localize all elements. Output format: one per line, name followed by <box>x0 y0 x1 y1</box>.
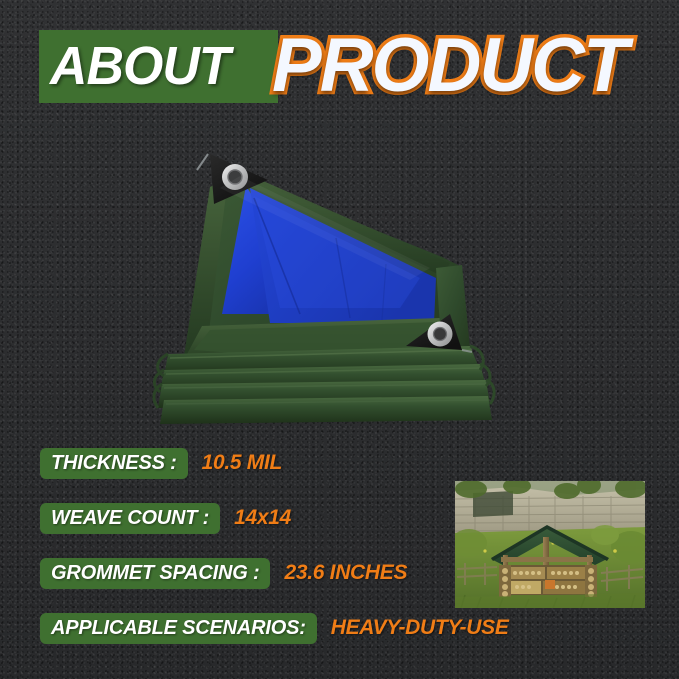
spec-row-weave-count: WEAVE COUNT : 14x14 <box>40 502 291 534</box>
spec-row-thickness: THICKNESS : 10.5 MIL <box>40 447 282 479</box>
product-photo-folded-tarp <box>150 118 552 428</box>
spec-row-applicable-scenarios: APPLICABLE SCENARIOS: HEAVY-DUTY-USE <box>40 612 509 644</box>
title-product-text: PRODUCT <box>272 24 627 108</box>
spec-label-grommet-spacing: GROMMET SPACING : <box>40 558 270 589</box>
about-product-infographic: ABOUT PRODUCT <box>0 0 679 679</box>
garden-shelter-illustration <box>455 481 645 608</box>
title-about-text: ABOUT <box>50 37 230 95</box>
spec-label-thickness: THICKNESS : <box>40 448 188 479</box>
spec-value-thickness: 10.5 MIL <box>202 452 282 474</box>
spec-value-applicable-scenarios: HEAVY-DUTY-USE <box>331 617 509 639</box>
spec-row-grommet-spacing: GROMMET SPACING : 23.6 INCHES <box>40 557 407 589</box>
tarp-illustration <box>150 118 552 428</box>
spec-label-weave-count: WEAVE COUNT : <box>40 503 220 534</box>
spec-value-grommet-spacing: 23.6 INCHES <box>284 562 407 584</box>
spec-label-applicable-scenarios: APPLICABLE SCENARIOS: <box>40 613 317 644</box>
spec-value-weave-count: 14x14 <box>234 507 291 529</box>
usage-photo-garden-shelter <box>455 481 645 608</box>
header-banner: ABOUT PRODUCT <box>0 24 679 108</box>
